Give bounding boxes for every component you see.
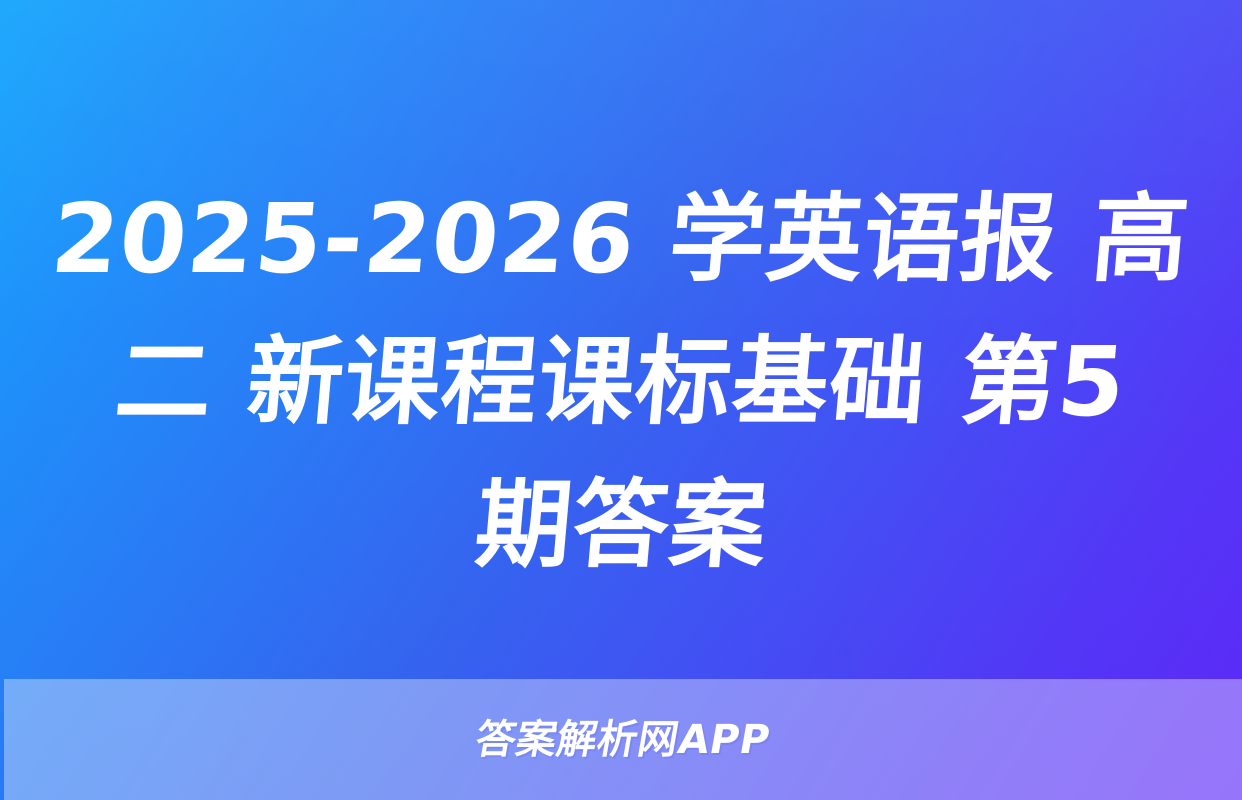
headline-line-2: 二 新课程课标基础 第5 — [110, 311, 1132, 454]
headline-line-1: 2025-2026 学英语报 高 — [46, 168, 1196, 311]
headline-line-3: 期答案 — [469, 454, 773, 597]
headline-block: 2025-2026 学英语报 高 二 新课程课标基础 第5 期答案 — [0, 168, 1242, 616]
watermark-band: 答案解析网APP — [4, 679, 1242, 800]
app-watermark-label: 答案解析网APP — [473, 720, 774, 760]
answer-banner: 2025-2026 学英语报 高 二 新课程课标基础 第5 期答案 答案解析网A… — [0, 0, 1242, 800]
